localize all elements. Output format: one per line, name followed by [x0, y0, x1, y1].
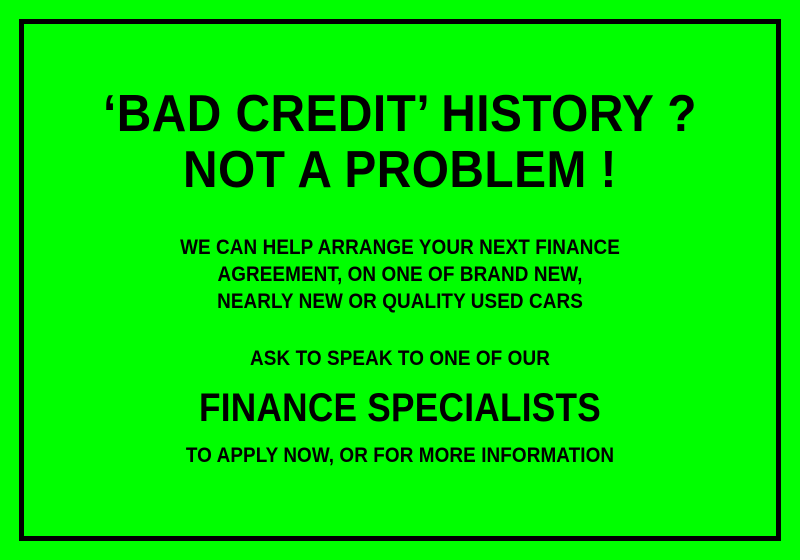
body-line-2: AGREEMENT, ON ONE OF BRAND NEW,: [98, 261, 703, 288]
finance-advert-poster: ‘BAD CREDIT’ HISTORY ? NOT A PROBLEM ! W…: [0, 0, 800, 560]
call-to-action-block: ASK TO SPEAK TO ONE OF OUR FINANCE SPECI…: [64, 345, 736, 469]
body-copy-block: WE CAN HELP ARRANGE YOUR NEXT FINANCE AG…: [64, 234, 736, 315]
cta-headline-finance-specialists: FINANCE SPECIALISTS: [104, 386, 695, 430]
poster-content: ‘BAD CREDIT’ HISTORY ? NOT A PROBLEM ! W…: [24, 24, 776, 536]
body-line-1: WE CAN HELP ARRANGE YOUR NEXT FINANCE: [98, 234, 703, 261]
cta-footer-text: TO APPLY NOW, OR FOR MORE INFORMATION: [98, 442, 703, 469]
headline-block: ‘BAD CREDIT’ HISTORY ? NOT A PROBLEM !: [64, 86, 736, 198]
headline-line-not-a-problem: NOT A PROBLEM !: [91, 142, 709, 198]
cta-lead-text: ASK TO SPEAK TO ONE OF OUR: [98, 345, 703, 372]
body-line-3: NEARLY NEW OR QUALITY USED CARS: [98, 288, 703, 315]
headline-line-bad-credit-history: ‘BAD CREDIT’ HISTORY ?: [91, 86, 709, 142]
